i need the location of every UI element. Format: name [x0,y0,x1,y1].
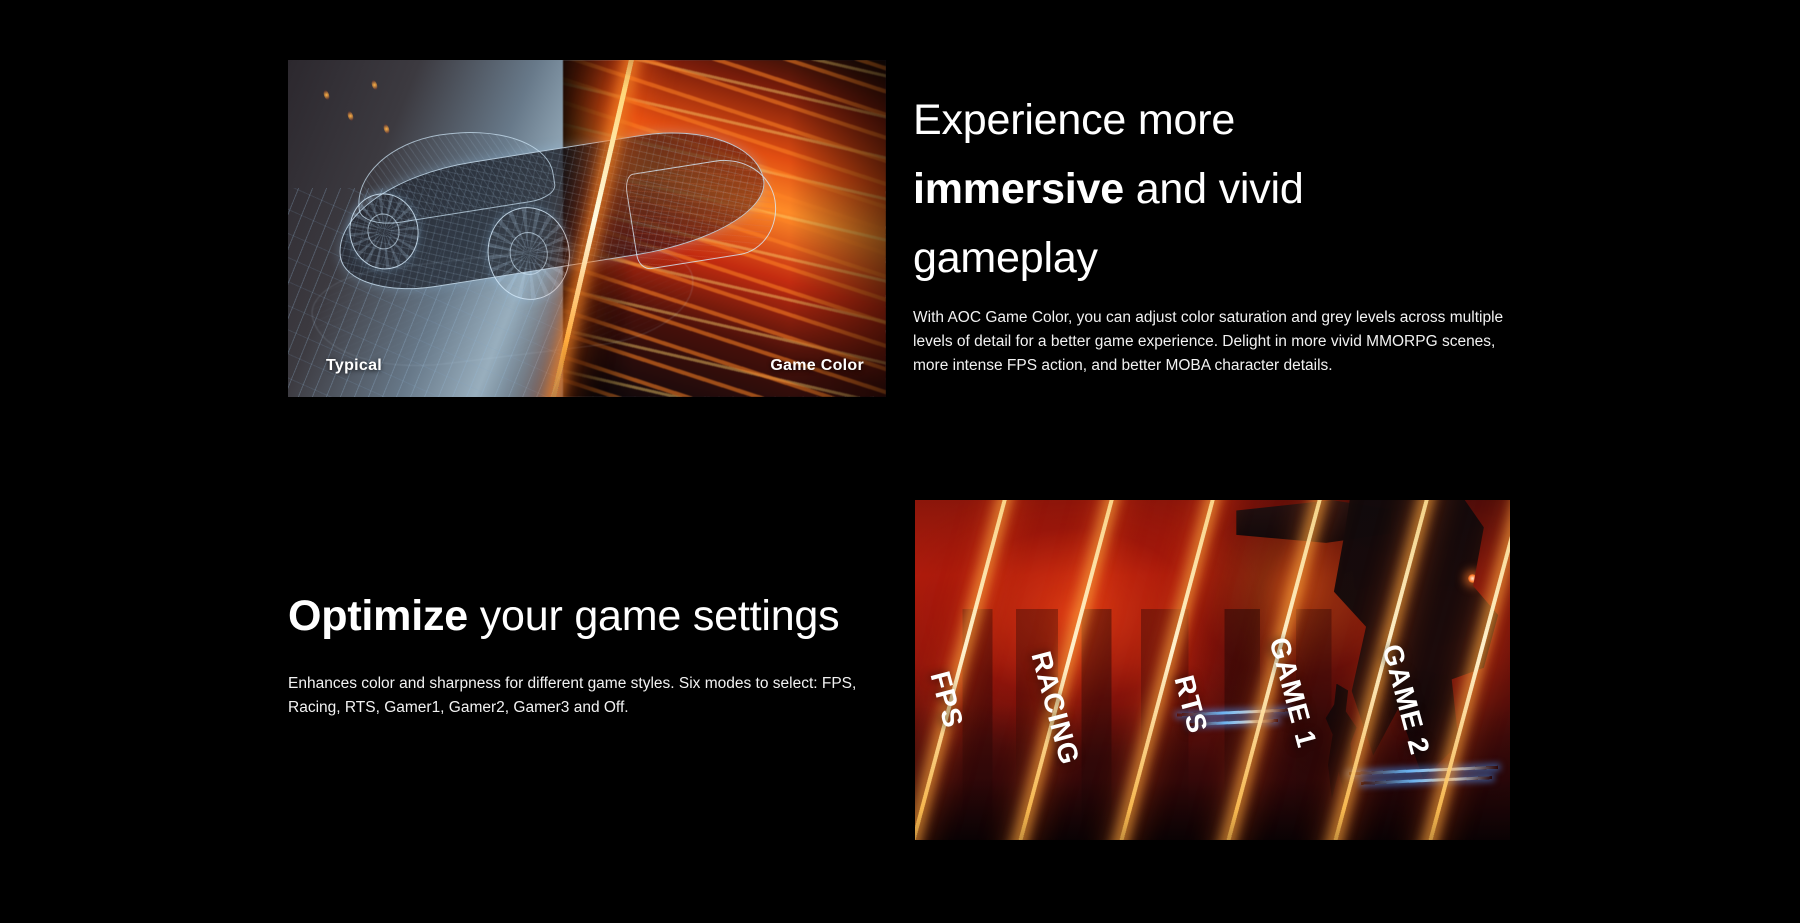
game-color-description: With AOC Game Color, you can adjust colo… [913,306,1505,378]
game-modes-heading: Optimize your game settings [288,582,868,651]
heading-emphasis: Optimize [288,592,468,640]
game-modes-text-column: Optimize your game settings Enhances col… [288,582,868,720]
heading-rest: your game settings [468,592,839,640]
heading-emphasis: immersive [913,165,1124,213]
heading-line-3: gameplay [913,234,1098,282]
game-mode-presets-image: FPSRACINGRTSGAME 1GAME 2 [915,500,1510,840]
game-color-heading: Experience more immersive and vivid game… [913,86,1513,293]
image-label-typical: Typical [326,357,382,375]
section-game-modes: Optimize your game settings Enhances col… [0,460,1800,923]
game-color-text-column: Experience more immersive and vivid game… [913,86,1513,378]
image-label-game-color: Game Color [770,357,864,375]
heading-line-1: Experience more [913,96,1235,144]
section-game-color: Typical Game Color Experience more immer… [0,0,1800,460]
heading-line-2-rest: and vivid [1124,165,1304,213]
game-color-comparison-image: Typical Game Color [288,60,886,397]
game-modes-description: Enhances color and sharpness for differe… [288,672,863,720]
